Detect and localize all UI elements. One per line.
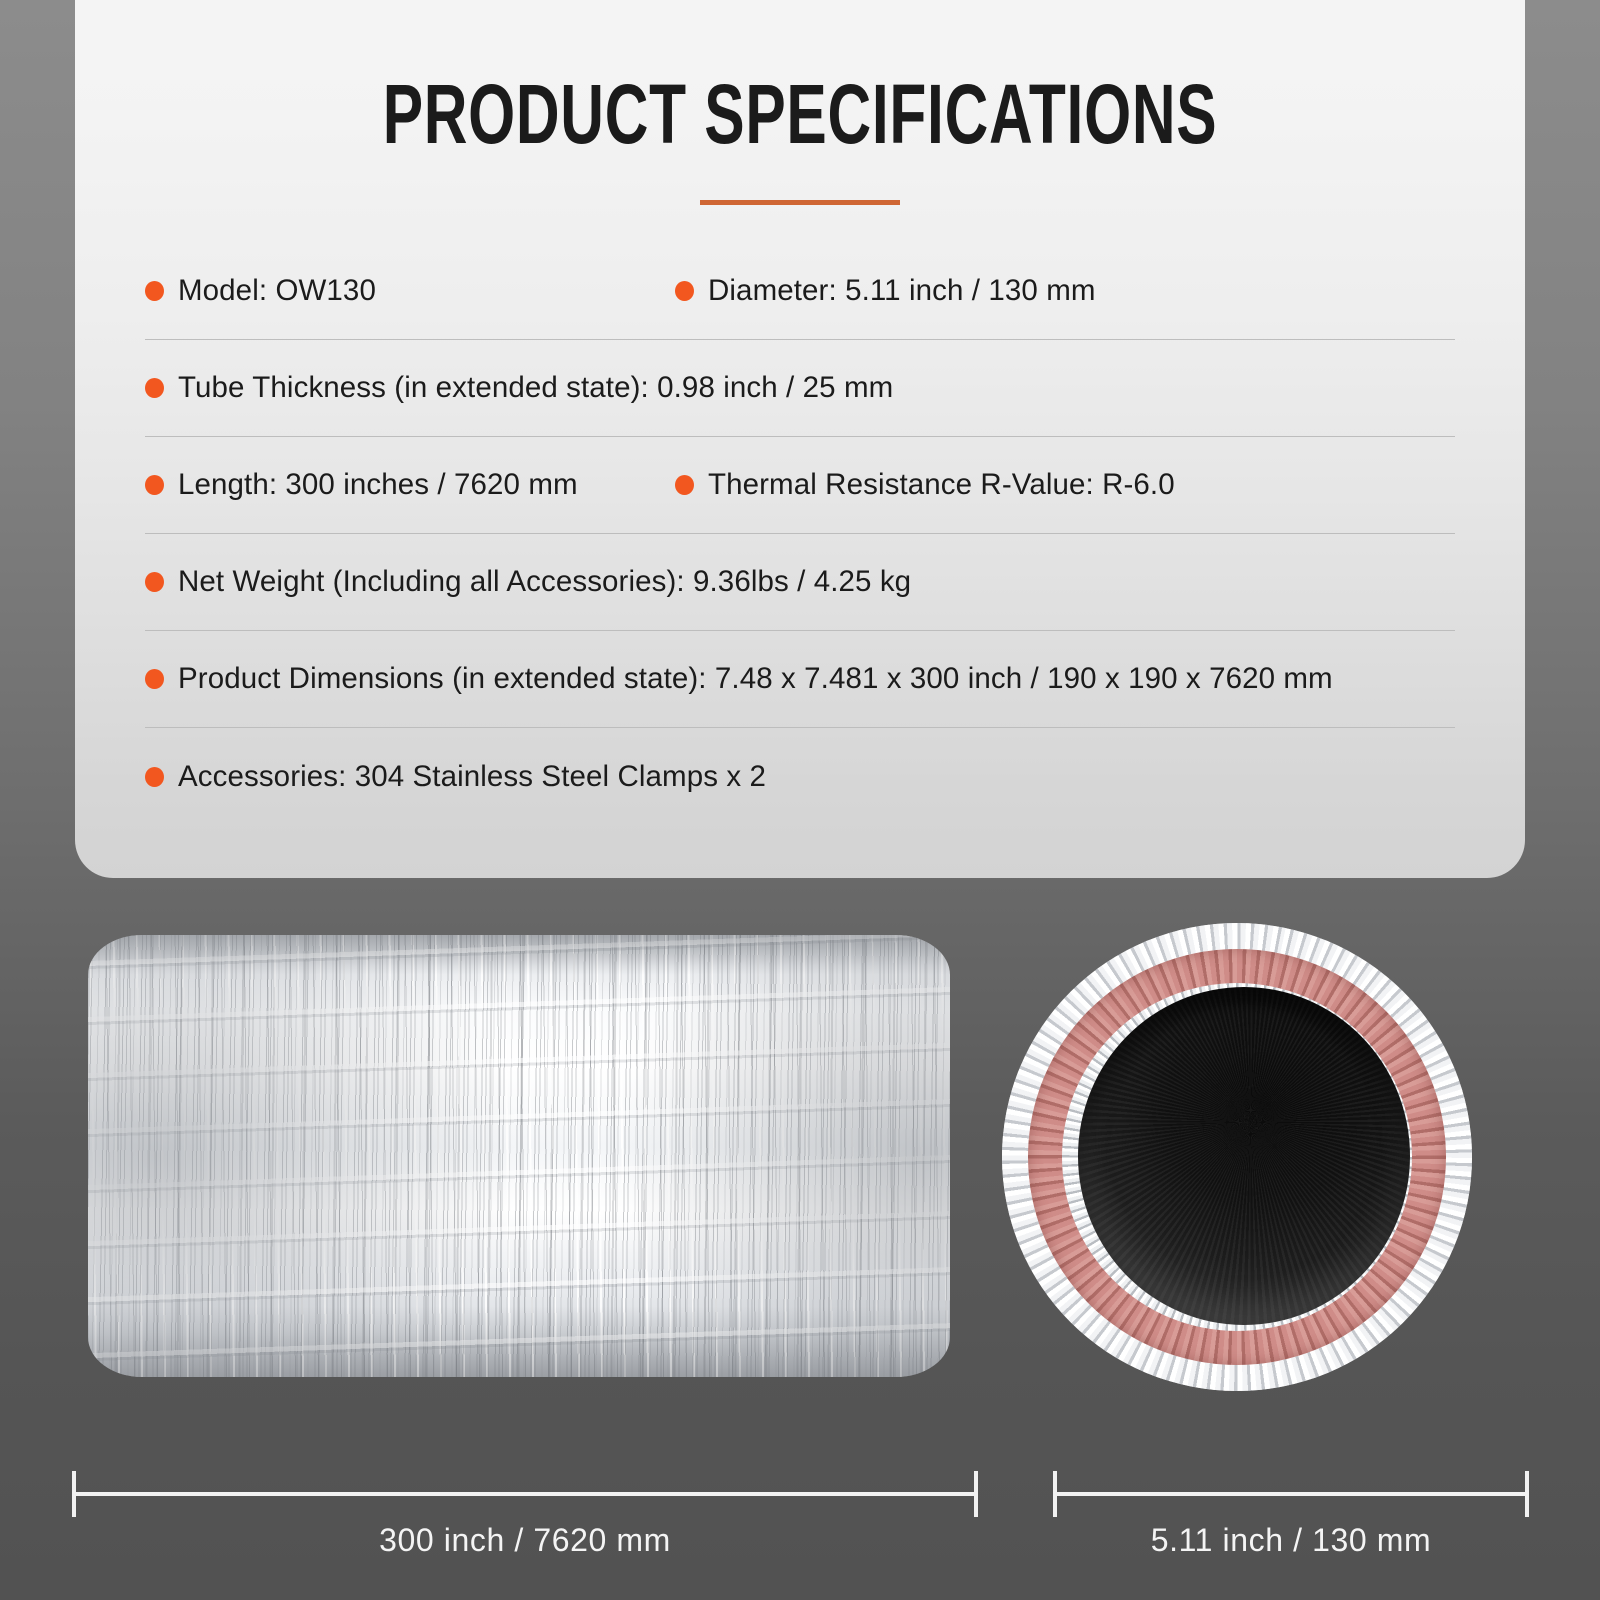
duct-cross-section-image	[1002, 923, 1472, 1391]
spec-list: Model: OW130 Diameter: 5.11 inch / 130 m…	[75, 243, 1525, 825]
spec-card-inner: PRODUCT SPECIFICATIONS Model: OW130 Diam…	[75, 0, 1525, 878]
spec-card: PRODUCT SPECIFICATIONS Model: OW130 Diam…	[75, 0, 1525, 878]
spec-row: Accessories: 304 Stainless Steel Clamps …	[145, 728, 1455, 825]
diameter-dimension-cap-left	[1053, 1471, 1057, 1517]
spec-row: Tube Thickness (in extended state): 0.98…	[145, 340, 1455, 437]
spec-label: Thermal Resistance R-Value: R-6.0	[708, 468, 1175, 502]
duct-roll-image	[88, 935, 950, 1377]
spec-row: Net Weight (Including all Accessories): …	[145, 534, 1455, 631]
length-dimension-cap-left	[72, 1471, 76, 1517]
length-dimension-cap-right	[974, 1471, 978, 1517]
bullet-icon	[145, 669, 164, 689]
spec-label: Product Dimensions (in extended state): …	[178, 662, 1333, 696]
spec-label: Model: OW130	[178, 274, 376, 308]
spec-item: Length: 300 inches / 7620 mm	[145, 468, 675, 502]
page-title: PRODUCT SPECIFICATIONS	[278, 72, 1322, 156]
spec-label: Length: 300 inches / 7620 mm	[178, 468, 578, 502]
spec-item: Product Dimensions (in extended state): …	[145, 662, 1455, 696]
spec-item: Thermal Resistance R-Value: R-6.0	[675, 468, 1455, 502]
spec-label: Accessories: 304 Stainless Steel Clamps …	[178, 760, 766, 794]
spec-row: Product Dimensions (in extended state): …	[145, 631, 1455, 728]
bullet-icon	[145, 572, 164, 592]
bullet-icon	[145, 378, 164, 398]
spec-item: Net Weight (Including all Accessories): …	[145, 565, 1455, 599]
diameter-dimension-cap-right	[1525, 1471, 1529, 1517]
bullet-icon	[145, 767, 164, 787]
bullet-icon	[675, 475, 694, 495]
duct-bore-interior	[1078, 987, 1410, 1325]
bullet-icon	[145, 281, 164, 301]
title-accent-underline	[700, 200, 900, 205]
spec-label: Net Weight (Including all Accessories): …	[178, 565, 911, 599]
diameter-dimension-label: 5.11 inch / 130 mm	[1053, 1522, 1529, 1559]
length-dimension-line	[72, 1492, 978, 1496]
spec-item: Model: OW130	[145, 274, 675, 308]
product-image-area	[0, 905, 1600, 1485]
bullet-icon	[675, 281, 694, 301]
spec-label: Diameter: 5.11 inch / 130 mm	[708, 274, 1096, 308]
spec-item: Accessories: 304 Stainless Steel Clamps …	[145, 760, 1455, 794]
diameter-dimension-line	[1053, 1492, 1529, 1496]
spec-label: Tube Thickness (in extended state): 0.98…	[178, 371, 893, 405]
spec-item: Diameter: 5.11 inch / 130 mm	[675, 274, 1455, 308]
spec-item: Tube Thickness (in extended state): 0.98…	[145, 371, 1455, 405]
spec-row: Model: OW130 Diameter: 5.11 inch / 130 m…	[145, 243, 1455, 340]
length-dimension-label: 300 inch / 7620 mm	[72, 1522, 978, 1559]
bullet-icon	[145, 475, 164, 495]
spec-row: Length: 300 inches / 7620 mm Thermal Res…	[145, 437, 1455, 534]
